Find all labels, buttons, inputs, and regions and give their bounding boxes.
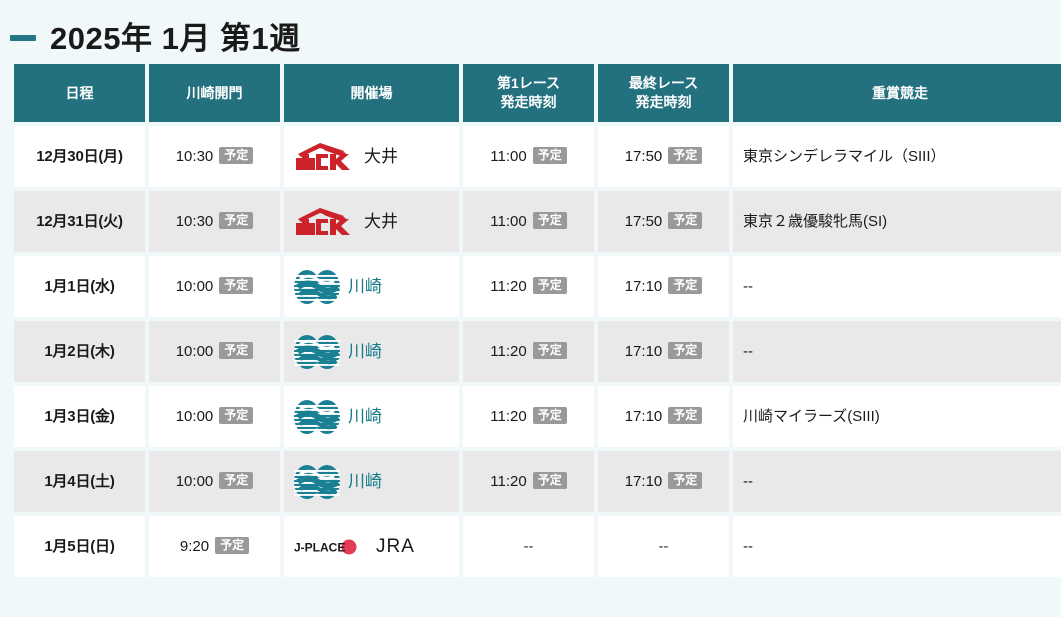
table-header-row: 日程 川崎開門 開催場 第1レース 発走時刻 最終レース 発走時刻 重賞競走 xyxy=(14,64,1061,122)
venue-name: 川崎 xyxy=(348,343,382,360)
cell-gate-open-time-value: 10:00 xyxy=(176,408,214,425)
cell-gate-open-time-badge: 予定 xyxy=(219,277,253,294)
stakes-race-name: 東京シンデレラマイル（SIII） xyxy=(743,148,946,165)
tck-logo xyxy=(294,207,356,237)
cell-first-race-time-value: 11:20 xyxy=(490,343,526,360)
cell-first-race-time-value: -- xyxy=(524,538,534,555)
venue-inner: J-PLACEJRA xyxy=(294,537,449,556)
cell-last-race-time-value: 17:10 xyxy=(625,408,663,425)
jplace-logo: J-PLACE xyxy=(294,538,368,556)
venue-name: 大井 xyxy=(364,148,398,165)
stakes-race-name: -- xyxy=(743,473,753,490)
cell-last-race-time-badge: 予定 xyxy=(668,212,702,229)
stakes-race-name: -- xyxy=(743,343,753,360)
page-title: 2025年 1月 第1週 xyxy=(0,0,1061,60)
cell-gate-open-time: 10:00予定 xyxy=(149,321,280,382)
cell-date: 12月31日(火) xyxy=(14,191,145,252)
cell-gate-open-time-value: 10:30 xyxy=(176,148,214,165)
cell-date: 1月4日(土) xyxy=(14,451,145,512)
cell-last-race-time-badge: 予定 xyxy=(668,277,702,294)
column-header-first-race-time: 第1レース 発走時刻 xyxy=(463,64,594,122)
kawasaki-logo xyxy=(294,270,340,304)
column-header-last-race-time-line1: 最終レース xyxy=(629,75,698,91)
column-header-last-race-time: 最終レース 発走時刻 xyxy=(598,64,729,122)
column-header-kawasaki-gate-open: 川崎開門 xyxy=(149,64,280,122)
kawasaki-logo xyxy=(294,400,340,434)
cell-first-race-time-value: 11:20 xyxy=(490,278,526,295)
venue-inner: 川崎 xyxy=(294,270,449,304)
cell-first-race-time-value: 11:00 xyxy=(490,213,526,230)
cell-last-race-time: 17:10予定 xyxy=(598,451,729,512)
table-row[interactable]: 12月31日(火)10:30予定大井11:00予定17:50予定東京２歳優駿牝馬… xyxy=(14,191,1061,252)
cell-venue: 川崎 xyxy=(284,321,459,382)
cell-gate-open-time: 10:30予定 xyxy=(149,126,280,187)
cell-first-race-time-value: 11:20 xyxy=(490,473,526,490)
column-header-venue: 開催場 xyxy=(284,64,459,122)
cell-last-race-time-value: 17:50 xyxy=(625,213,663,230)
cell-gate-open-time-badge: 予定 xyxy=(215,537,249,554)
column-header-first-race-time-line1: 第1レース xyxy=(497,75,560,91)
column-header-last-race-time-line2: 発走時刻 xyxy=(636,94,692,110)
kawasaki-logo xyxy=(294,335,340,369)
venue-inner: 大井 xyxy=(294,142,449,172)
page-title-text: 2025年 1月 第1週 xyxy=(50,23,301,54)
table-row[interactable]: 1月2日(木)10:00予定川崎11:20予定17:10予定-- xyxy=(14,321,1061,382)
cell-venue: J-PLACEJRA xyxy=(284,516,459,577)
cell-first-race-time: 11:20予定 xyxy=(463,386,594,447)
column-header-stakes-race: 重賞競走 xyxy=(733,64,1061,122)
cell-stakes-race: -- xyxy=(733,516,1061,577)
cell-last-race-time-badge: 予定 xyxy=(668,407,702,424)
cell-gate-open-time-value: 10:00 xyxy=(176,473,214,490)
venue-name: 川崎 xyxy=(348,473,382,490)
cell-first-race-time-badge: 予定 xyxy=(533,472,567,489)
kawasaki-logo xyxy=(294,465,340,499)
dash-icon xyxy=(10,35,36,41)
race-schedule-table: 日程 川崎開門 開催場 第1レース 発走時刻 最終レース 発走時刻 重賞競走 1… xyxy=(10,60,1061,581)
cell-first-race-time-value: 11:20 xyxy=(490,408,526,425)
table-row[interactable]: 1月4日(土)10:00予定川崎11:20予定17:10予定-- xyxy=(14,451,1061,512)
table-row[interactable]: 1月1日(水)10:00予定川崎11:20予定17:10予定-- xyxy=(14,256,1061,317)
cell-gate-open-time: 9:20予定 xyxy=(149,516,280,577)
stakes-race-name: -- xyxy=(743,278,753,295)
table-row[interactable]: 1月5日(日)9:20予定J-PLACEJRA------ xyxy=(14,516,1061,577)
cell-stakes-race: 東京２歳優駿牝馬(SI) xyxy=(733,191,1061,252)
venue-inner: 川崎 xyxy=(294,335,449,369)
cell-gate-open-time-value: 10:30 xyxy=(176,213,214,230)
cell-first-race-time-badge: 予定 xyxy=(533,212,567,229)
cell-gate-open-time: 10:30予定 xyxy=(149,191,280,252)
svg-text:J-PLACE: J-PLACE xyxy=(294,540,345,554)
cell-first-race-time: 11:20予定 xyxy=(463,256,594,317)
cell-stakes-race: -- xyxy=(733,321,1061,382)
table-row[interactable]: 1月3日(金)10:00予定川崎11:20予定17:10予定川崎マイラーズ(SI… xyxy=(14,386,1061,447)
cell-first-race-time: 11:20予定 xyxy=(463,451,594,512)
cell-date: 1月5日(日) xyxy=(14,516,145,577)
cell-last-race-time-value: 17:50 xyxy=(625,148,663,165)
cell-first-race-time-badge: 予定 xyxy=(533,277,567,294)
cell-gate-open-time-badge: 予定 xyxy=(219,342,253,359)
cell-first-race-time-value: 11:00 xyxy=(490,148,526,165)
cell-last-race-time-badge: 予定 xyxy=(668,147,702,164)
stakes-race-name: 東京２歳優駿牝馬(SI) xyxy=(743,213,887,230)
cell-gate-open-time: 10:00予定 xyxy=(149,256,280,317)
venue-inner: 川崎 xyxy=(294,400,449,434)
cell-gate-open-time-value: 10:00 xyxy=(176,278,214,295)
cell-gate-open-time-value: 9:20 xyxy=(180,538,209,555)
cell-venue: 大井 xyxy=(284,191,459,252)
column-header-date: 日程 xyxy=(14,64,145,122)
venue-inner: 川崎 xyxy=(294,465,449,499)
cell-first-race-time: 11:20予定 xyxy=(463,321,594,382)
cell-venue: 川崎 xyxy=(284,256,459,317)
cell-last-race-time: 17:50予定 xyxy=(598,126,729,187)
cell-last-race-time-badge: 予定 xyxy=(668,342,702,359)
cell-venue: 大井 xyxy=(284,126,459,187)
cell-gate-open-time: 10:00予定 xyxy=(149,386,280,447)
cell-last-race-time-value: 17:10 xyxy=(625,473,663,490)
venue-inner: 大井 xyxy=(294,207,449,237)
cell-last-race-time: 17:10予定 xyxy=(598,321,729,382)
cell-venue: 川崎 xyxy=(284,451,459,512)
cell-first-race-time: -- xyxy=(463,516,594,577)
cell-first-race-time: 11:00予定 xyxy=(463,191,594,252)
cell-stakes-race: 東京シンデレラマイル（SIII） xyxy=(733,126,1061,187)
cell-gate-open-time-value: 10:00 xyxy=(176,343,214,360)
cell-last-race-time: 17:50予定 xyxy=(598,191,729,252)
table-row[interactable]: 12月30日(月)10:30予定大井11:00予定17:50予定東京シンデレラマ… xyxy=(14,126,1061,187)
venue-name: 大井 xyxy=(364,213,398,230)
cell-first-race-time-badge: 予定 xyxy=(533,147,567,164)
cell-first-race-time-badge: 予定 xyxy=(533,342,567,359)
table-body: 12月30日(月)10:30予定大井11:00予定17:50予定東京シンデレラマ… xyxy=(14,126,1061,577)
cell-last-race-time-badge: 予定 xyxy=(668,472,702,489)
stakes-race-name: -- xyxy=(743,538,753,555)
column-header-first-race-time-line2: 発走時刻 xyxy=(501,94,557,110)
cell-date: 1月3日(金) xyxy=(14,386,145,447)
venue-name: 川崎 xyxy=(348,408,382,425)
cell-venue: 川崎 xyxy=(284,386,459,447)
cell-stakes-race: -- xyxy=(733,451,1061,512)
cell-first-race-time-badge: 予定 xyxy=(533,407,567,424)
tck-logo xyxy=(294,142,356,172)
cell-date: 1月1日(水) xyxy=(14,256,145,317)
cell-last-race-time-value: 17:10 xyxy=(625,343,663,360)
cell-date: 12月30日(月) xyxy=(14,126,145,187)
cell-gate-open-time-badge: 予定 xyxy=(219,147,253,164)
table-header: 日程 川崎開門 開催場 第1レース 発走時刻 最終レース 発走時刻 重賞競走 xyxy=(14,64,1061,122)
cell-last-race-time: 17:10予定 xyxy=(598,256,729,317)
cell-last-race-time-value: 17:10 xyxy=(625,278,663,295)
cell-last-race-time: -- xyxy=(598,516,729,577)
cell-gate-open-time-badge: 予定 xyxy=(219,472,253,489)
cell-first-race-time: 11:00予定 xyxy=(463,126,594,187)
cell-gate-open-time-badge: 予定 xyxy=(219,212,253,229)
cell-date: 1月2日(木) xyxy=(14,321,145,382)
schedule-table-container: 日程 川崎開門 開催場 第1レース 発走時刻 最終レース 発走時刻 重賞競走 1… xyxy=(0,60,1061,581)
venue-name: JRA xyxy=(376,537,415,556)
cell-last-race-time: 17:10予定 xyxy=(598,386,729,447)
cell-gate-open-time-badge: 予定 xyxy=(219,407,253,424)
cell-gate-open-time: 10:00予定 xyxy=(149,451,280,512)
stakes-race-name: 川崎マイラーズ(SIII) xyxy=(743,408,880,425)
cell-last-race-time-value: -- xyxy=(659,538,669,555)
cell-stakes-race: -- xyxy=(733,256,1061,317)
venue-name: 川崎 xyxy=(348,278,382,295)
cell-stakes-race: 川崎マイラーズ(SIII) xyxy=(733,386,1061,447)
